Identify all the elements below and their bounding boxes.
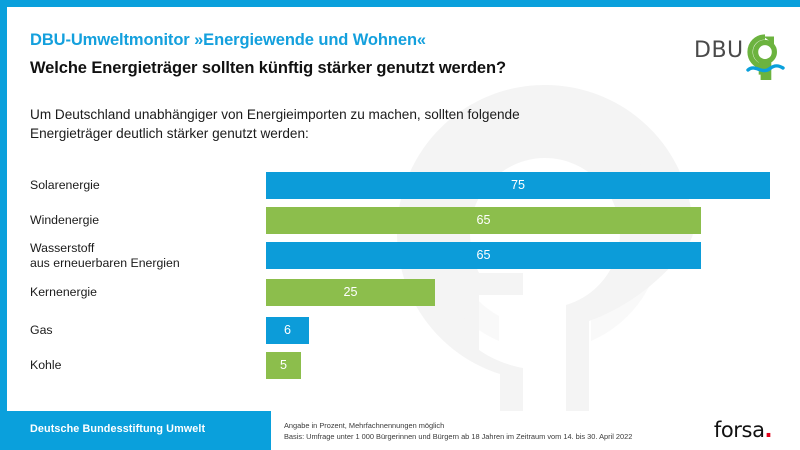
intro-text-line2: Energieträger deutlich stärker genutzt w…	[30, 124, 590, 143]
bar-value: 65	[476, 249, 490, 262]
bar-solarenergie: 75	[266, 172, 770, 199]
bar-label-line1: Kernenergie	[30, 285, 255, 300]
page-title: Welche Energieträger sollten künftig stä…	[30, 59, 670, 78]
footer-brand: Deutsche Bundesstiftung Umwelt	[30, 423, 205, 435]
bar-label-line1: Windenergie	[30, 213, 255, 228]
forsa-logo-text: forsa.	[714, 420, 772, 441]
bar-wasserstoff: 65	[266, 242, 701, 269]
bar-value: 75	[511, 179, 525, 192]
chart-row: Kohle 5	[7, 352, 800, 379]
bar-label-line1: Solarenergie	[30, 178, 255, 193]
bar-label-line1: Wasserstoff	[30, 241, 255, 256]
bar-value: 25	[343, 286, 357, 299]
chart-row: Wasserstoff aus erneuerbaren Energien 65	[7, 242, 800, 269]
footer-note: Angabe in Prozent, Mehrfachnennungen mög…	[271, 411, 686, 450]
footer-note-line2: Basis: Umfrage unter 1 000 Bürgerinnen u…	[284, 431, 686, 442]
intro-text-line1: Um Deutschland unabhängiger von Energiei…	[30, 105, 590, 124]
footer-bar: Deutsche Bundesstiftung Umwelt Angabe in…	[0, 411, 800, 450]
bar-label: Solarenergie	[30, 172, 255, 199]
bar-windenergie: 65	[266, 207, 701, 234]
chart-row: Windenergie 65	[7, 207, 800, 234]
bar-gas: 6	[266, 317, 309, 344]
forsa-dot: .	[765, 418, 773, 442]
bar-label-line1: Gas	[30, 323, 255, 338]
forsa-wordmark: forsa	[714, 418, 765, 442]
footer-note-line1: Angabe in Prozent, Mehrfachnennungen mög…	[284, 420, 686, 431]
eyebrow-title: DBU-Umweltmonitor »Energiewende und Wohn…	[30, 31, 670, 50]
bar-kohle: 5	[266, 352, 301, 379]
dbu-logo-mark	[750, 37, 774, 81]
intro-text: Um Deutschland unabhängiger von Energiei…	[30, 105, 590, 143]
header-block: DBU-Umweltmonitor »Energiewende und Wohn…	[30, 31, 670, 78]
bar-label: Kohle	[30, 352, 255, 379]
bar-label-line2: aus erneuerbaren Energien	[30, 256, 255, 271]
bar-value: 5	[280, 359, 287, 372]
bar-value: 6	[284, 324, 291, 337]
bar-label: Gas	[30, 317, 255, 344]
bar-chart: Solarenergie 75 Windenergie 65 Wassersto…	[7, 162, 800, 387]
bar-kernenergie: 25	[266, 279, 435, 306]
content-card: DBU-Umweltmonitor »Energiewende und Wohn…	[7, 7, 800, 411]
chart-row: Solarenergie 75	[7, 172, 800, 199]
bar-label: Windenergie	[30, 207, 255, 234]
dbu-logo: DBU	[693, 32, 785, 80]
forsa-logo: forsa.	[686, 411, 800, 450]
bar-value: 65	[476, 214, 490, 227]
infographic-poster: DBU-Umweltmonitor »Energiewende und Wohn…	[0, 0, 800, 450]
bar-label: Kernenergie	[30, 279, 255, 306]
bar-label: Wasserstoff aus erneuerbaren Energien	[30, 242, 255, 269]
bar-label-line1: Kohle	[30, 358, 255, 373]
chart-row: Gas 6	[7, 317, 800, 344]
chart-row: Kernenergie 25	[7, 279, 800, 306]
dbu-logo-text: DBU	[694, 38, 744, 63]
